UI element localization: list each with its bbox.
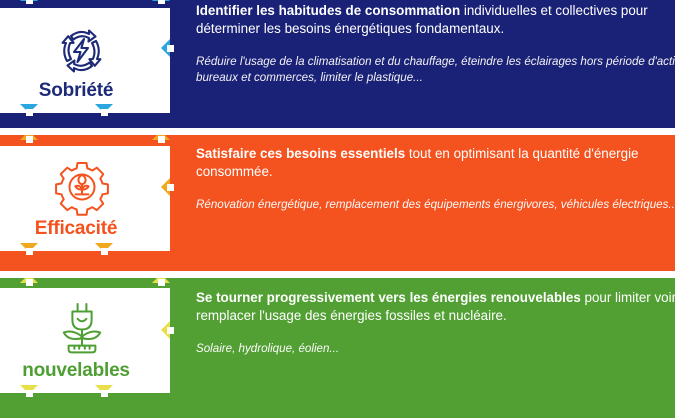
pillar-body-efficacite: Satisfaire ces besoins essentiels tout e…	[196, 145, 675, 213]
pillar-label-efficacite: Efficacité	[35, 218, 117, 240]
pillar-row-sobriete[interactable]: Sobriété Identifier les habitudes de con…	[0, 0, 675, 130]
energy-cycle-icon	[51, 20, 113, 78]
pillar-description-sobriete: Identifier les habitudes de consommation…	[196, 2, 675, 37]
pillar-body-renouvelables: Se tourner progressivement vers les éner…	[196, 289, 675, 357]
pillar-description-lead: Se tourner progressivement vers les éner…	[196, 290, 581, 305]
pillar-example-efficacite: Rénovation énergétique, remplacement des…	[196, 197, 675, 213]
pillar-row-efficacite[interactable]: Efficacité Satisfaire ces besoins essent…	[0, 135, 675, 273]
pillar-description-efficacite: Satisfaire ces besoins essentiels tout e…	[196, 145, 675, 180]
pillar-label-sobriete: Sobriété	[39, 80, 113, 102]
pillar-label-renouvelables: nouvelables	[22, 360, 130, 382]
plug-flower-icon	[51, 300, 113, 358]
pillar-example-sobriete: Réduire l'usage de la climatisation et d…	[196, 54, 675, 85]
pillar-description-renouvelables: Se tourner progressivement vers les éner…	[196, 289, 675, 324]
icon-card-efficacite[interactable]: Efficacité	[0, 146, 170, 251]
pillar-row-renouvelables[interactable]: nouvelables Se tourner progressivement v…	[0, 278, 675, 418]
row-gap	[0, 128, 675, 134]
pillar-example-renouvelables: Solaire, hydrolique, éolien...	[196, 341, 675, 357]
slide-canvas: Sobriété Identifier les habitudes de con…	[0, 0, 675, 410]
gear-plant-icon	[51, 158, 113, 216]
row-gap	[0, 271, 675, 277]
icon-card-sobriete[interactable]: Sobriété	[0, 8, 170, 113]
icon-card-renouvelables[interactable]: nouvelables	[0, 288, 170, 393]
pillar-body-sobriete: Identifier les habitudes de consommation…	[196, 2, 675, 85]
pillar-description-lead: Satisfaire ces besoins essentiels	[196, 146, 405, 161]
pillar-description-lead: Identifier les habitudes de consommation	[196, 3, 460, 18]
